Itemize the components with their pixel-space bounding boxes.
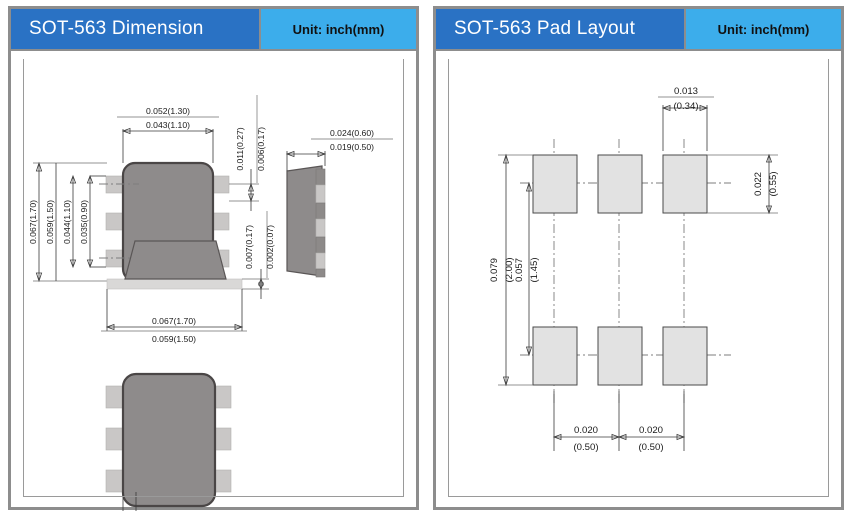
dim-side-thickness-max: 0.007(0.17) <box>244 225 254 269</box>
dim-pitch-right-inch: 0.020 <box>639 425 663 436</box>
pad-4 <box>533 327 577 385</box>
pad-titlebar: SOT-563 Pad Layout Unit: inch(mm) <box>436 9 841 49</box>
dim-pad-width-inch: 0.013 <box>674 86 698 97</box>
end-lead-3 <box>316 237 325 253</box>
pad-2 <box>598 155 642 213</box>
package-body-bottom <box>123 374 215 506</box>
pad-layout-drawing: 0.013 (0.34) 0.022 (0.55) 0.079 (2.00) <box>436 51 841 511</box>
dim-lead-thickness-max: 0.011(0.27) <box>235 127 245 170</box>
dim-span-outer-inch: 0.079 <box>489 258 500 282</box>
dim-lead-thickness-min: 0.006(0.17) <box>256 127 266 171</box>
dimension-title: SOT-563 Dimension <box>11 9 259 49</box>
dim-end-width-min: 0.019(0.50) <box>330 142 374 152</box>
pad-title: SOT-563 Pad Layout <box>436 9 684 49</box>
dim-span-inner-inch: 0.057 <box>514 258 525 282</box>
panel-pad-layout: SOT-563 Pad Layout Unit: inch(mm) <box>433 6 844 510</box>
dim-side-width-max: 0.067(1.70) <box>152 316 196 326</box>
dimension-unit-label: Unit: inch(mm) <box>259 9 416 49</box>
dim-side-width-min: 0.059(1.50) <box>152 334 196 344</box>
panel-dimension: SOT-563 Dimension Unit: inch(mm) <box>8 6 419 510</box>
dim-pitch-left-inch: 0.020 <box>574 425 598 436</box>
dim-side-thickness-min: 0.002(0.07) <box>265 225 275 269</box>
dimension-titlebar: SOT-563 Dimension Unit: inch(mm) <box>11 9 416 49</box>
dim-pitch-right-mm: (0.50) <box>638 442 663 453</box>
end-view-group: 0.024(0.60) 0.019(0.50) <box>287 128 393 277</box>
end-gap-3 <box>316 253 325 269</box>
pad-5 <box>598 327 642 385</box>
dim-pad-height-mm: (0.55) <box>768 171 779 196</box>
pad-canvas: 0.013 (0.34) 0.022 (0.55) 0.079 (2.00) <box>436 49 841 507</box>
dim-top-height-3: 0.044(1.10) <box>62 200 72 244</box>
end-gap-1 <box>316 185 325 203</box>
dim-top-width-max: 0.052(1.30) <box>146 106 190 116</box>
end-lead-2 <box>316 203 325 219</box>
dim-top-width-min: 0.043(1.10) <box>146 120 190 130</box>
package-body-side <box>125 241 226 279</box>
dim-top-height-4: 0.035(0.90) <box>79 200 89 244</box>
dimension-canvas: 0.052(1.30) 0.043(1.10) 0.067(1.70) 0.05… <box>11 49 416 507</box>
dim-span-inner-mm: (1.45) <box>529 257 540 282</box>
end-gap-2 <box>316 219 325 237</box>
bottom-view-group: 0.012(0.30) 0.004(0.10) <box>19 374 231 511</box>
dimension-drawing: 0.052(1.30) 0.043(1.10) 0.067(1.70) 0.05… <box>11 51 416 511</box>
dim-pad-width-mm: (0.34) <box>673 101 698 112</box>
end-lead-4 <box>316 269 325 277</box>
pad-6 <box>663 327 707 385</box>
dim-end-width-max: 0.024(0.60) <box>330 128 374 138</box>
dim-pitch-left-mm: (0.50) <box>573 442 598 453</box>
side-lead-plane <box>107 279 242 289</box>
dim-top-height-2: 0.059(1.50) <box>45 200 55 244</box>
pad-unit-label: Unit: inch(mm) <box>684 9 841 49</box>
dim-top-height-1: 0.067(1.70) <box>28 200 38 244</box>
pad-1 <box>533 155 577 213</box>
dim-pad-height-inch: 0.022 <box>753 172 764 196</box>
end-lead-1 <box>316 169 325 185</box>
drawing-sheet: SOT-563 Dimension Unit: inch(mm) <box>0 0 850 520</box>
pad-3 <box>663 155 707 213</box>
